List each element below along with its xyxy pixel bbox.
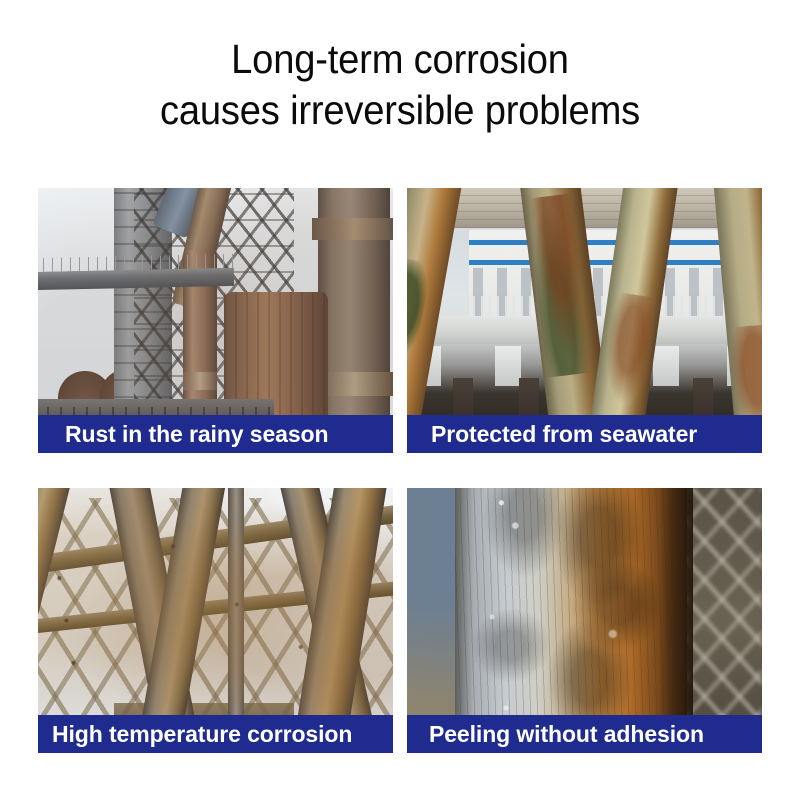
pier-footing (495, 346, 521, 386)
photo-caption: High temperature corrosion (38, 715, 393, 753)
page-title-line-2: causes irreversible problems (28, 85, 772, 136)
post-shadow-edge (659, 488, 693, 753)
building-blue-stripe-lower (469, 260, 737, 265)
photo-card-rust-rainy-season[interactable]: Rust in the rainy season (38, 188, 393, 453)
page-title: Long-term corrosion causes irreversible … (28, 34, 772, 136)
building-blue-stripe-upper (469, 240, 737, 245)
rust-grain-overlay (38, 188, 393, 453)
rust-wash-overlay (38, 488, 393, 753)
paint-flakes (455, 488, 687, 753)
photo-card-protected-from-seawater[interactable]: Protected from seawater (407, 188, 762, 453)
photo-caption: Rust in the rainy season (38, 415, 393, 453)
photo-pier-pillars (407, 188, 762, 453)
photo-grid: Rust in the rainy season (38, 188, 762, 753)
photo-caption: Peeling without adhesion (407, 715, 762, 753)
pier-footing (653, 346, 679, 386)
photo-truss-bridge (38, 488, 393, 753)
page-title-line-1: Long-term corrosion (28, 34, 772, 85)
photo-industrial-plant (38, 188, 393, 453)
photo-card-peeling-without-adhesion[interactable]: Peeling without adhesion (407, 488, 762, 753)
photo-caption: Protected from seawater (407, 415, 762, 453)
photo-peeling-post (407, 488, 762, 753)
photo-card-high-temperature-corrosion[interactable]: High temperature corrosion (38, 488, 393, 753)
